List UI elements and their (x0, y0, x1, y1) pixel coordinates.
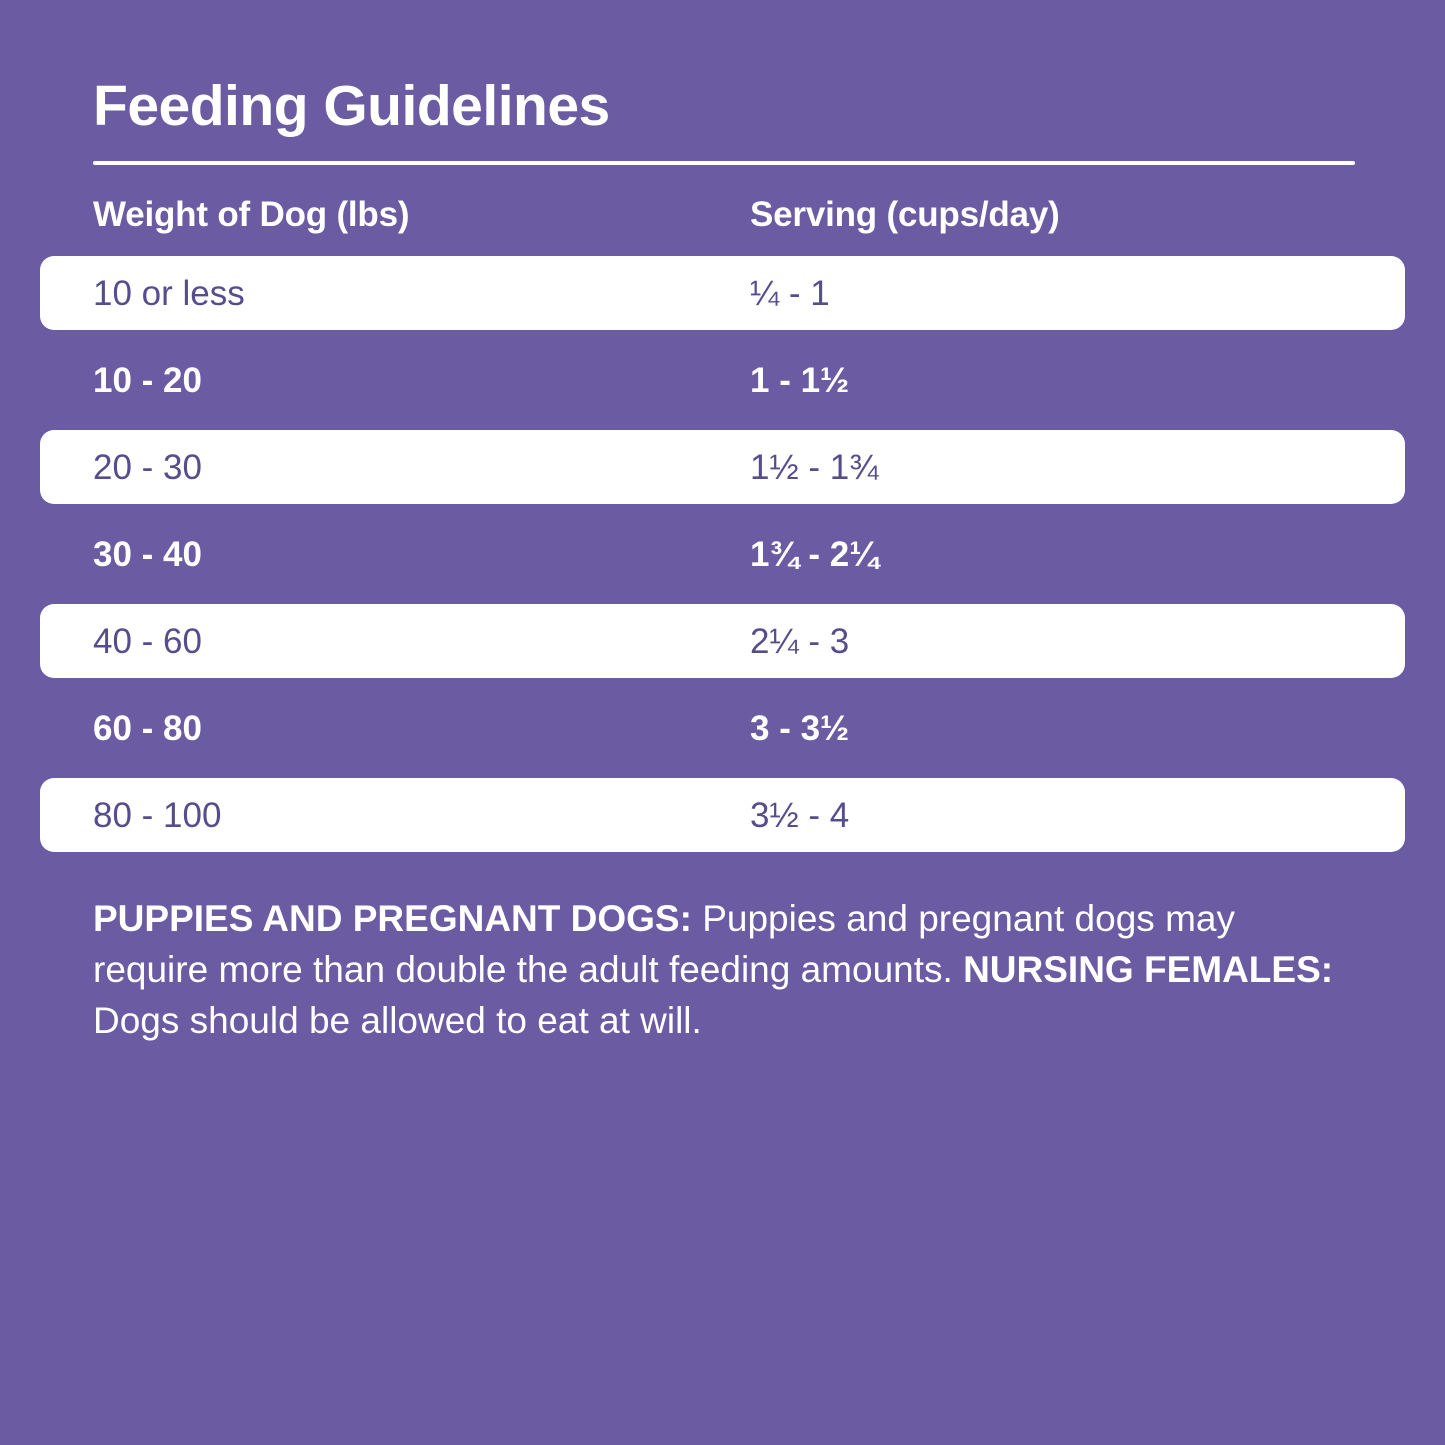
cell-serving: 1½ - 1¾ (750, 450, 878, 485)
cell-weight: 60 - 80 (93, 711, 750, 746)
table-column-headers: Weight of Dog (lbs) Serving (cups/day) (0, 165, 1445, 235)
title-block: Feeding Guidelines (0, 0, 1445, 165)
column-header-serving: Serving (cups/day) (750, 195, 1060, 235)
cell-serving: ¼ - 1 (750, 276, 830, 311)
feeding-guidelines-panel: Feeding Guidelines Weight of Dog (lbs) S… (0, 0, 1445, 1445)
cell-serving: 1¾ - 2¼ (750, 537, 878, 572)
table-row: 40 - 602¼ - 3 (40, 604, 1405, 678)
footnote-nursing-text: Dogs should be allowed to eat at will. (93, 1000, 702, 1041)
cell-serving: 3½ - 4 (750, 798, 849, 833)
cell-serving: 1 - 1½ (750, 363, 849, 398)
table-row: 60 - 803 - 3½ (40, 691, 1405, 765)
cell-weight: 30 - 40 (93, 537, 750, 572)
table-row: 30 - 401¾ - 2¼ (40, 517, 1405, 591)
cell-weight: 40 - 60 (93, 624, 750, 659)
feeding-table: 10 or less¼ - 110 - 201 - 1½20 - 301½ - … (0, 256, 1445, 852)
table-row: 80 - 1003½ - 4 (40, 778, 1405, 852)
cell-serving: 2¼ - 3 (750, 624, 849, 659)
cell-weight: 10 - 20 (93, 363, 750, 398)
cell-weight: 80 - 100 (93, 798, 750, 833)
cell-serving: 3 - 3½ (750, 711, 849, 746)
table-row: 10 - 201 - 1½ (40, 343, 1405, 417)
footnote-nursing-label: NURSING FEMALES: (963, 949, 1333, 990)
table-row: 10 or less¼ - 1 (40, 256, 1405, 330)
footnote-block: PUPPIES AND PREGNANT DOGS: Puppies and p… (0, 865, 1445, 1046)
table-row: 20 - 301½ - 1¾ (40, 430, 1405, 504)
footnote-puppies-label: PUPPIES AND PREGNANT DOGS: (93, 898, 692, 939)
cell-weight: 20 - 30 (93, 450, 750, 485)
cell-weight: 10 or less (93, 276, 750, 311)
page-title: Feeding Guidelines (93, 78, 1355, 135)
column-header-weight: Weight of Dog (lbs) (93, 195, 750, 235)
